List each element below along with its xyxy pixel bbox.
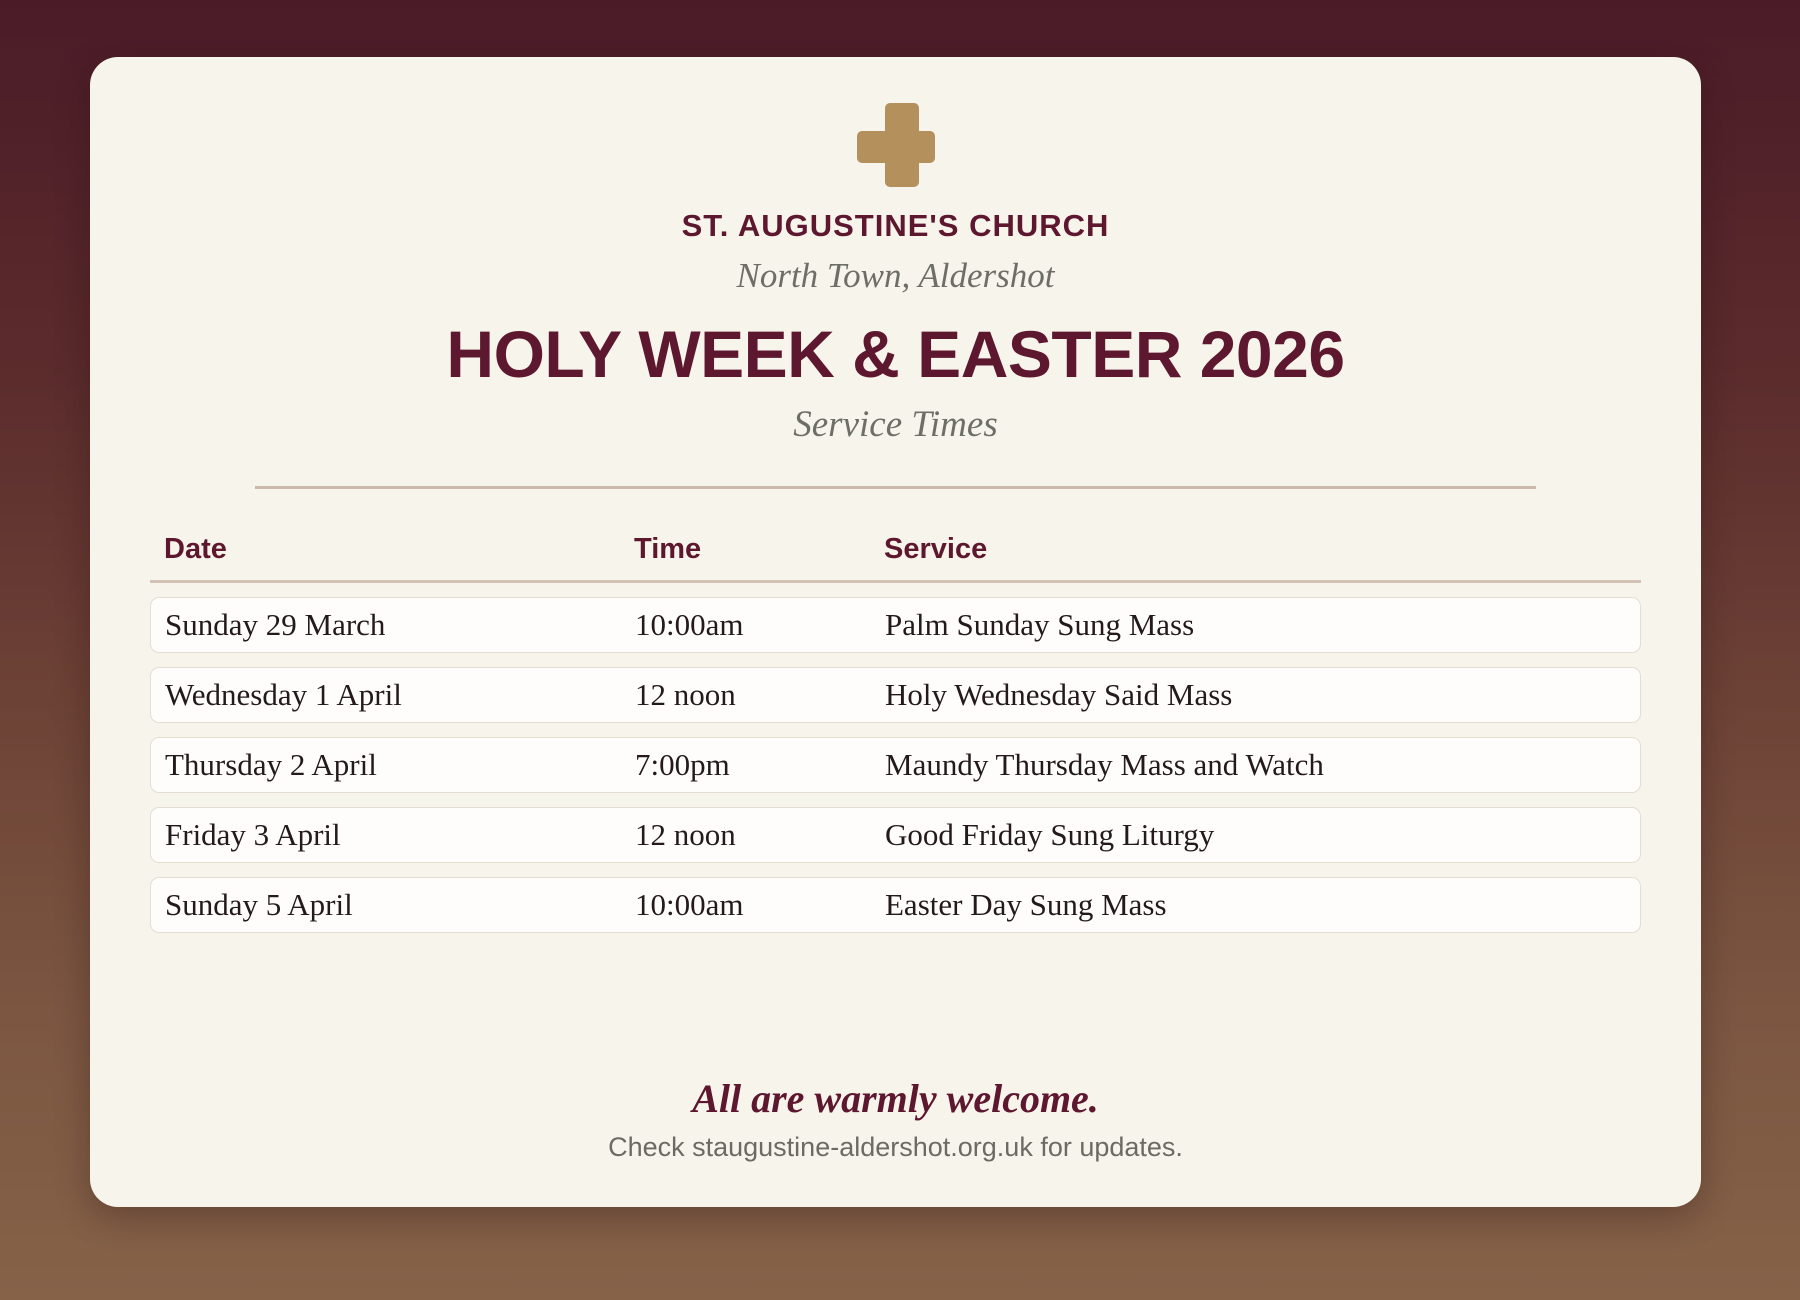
cell-service: Palm Sunday Sung Mass (885, 609, 1626, 640)
church-name: ST. AUGUSTINE'S CHURCH (150, 209, 1641, 243)
poster-footer: All are warmly welcome. Check staugustin… (150, 1077, 1641, 1207)
cell-time: 7:00pm (635, 749, 885, 780)
cell-service: Good Friday Sung Liturgy (885, 819, 1626, 850)
column-header-date: Date (164, 533, 634, 566)
cell-time: 12 noon (635, 679, 885, 710)
cell-date: Sunday 29 March (165, 609, 635, 640)
column-header-time: Time (634, 533, 884, 566)
cross-horizontal-bar (857, 131, 935, 163)
cell-date: Thursday 2 April (165, 749, 635, 780)
schedule-header-row: Date Time Service (150, 533, 1641, 583)
table-row: Sunday 29 March 10:00am Palm Sunday Sung… (150, 597, 1641, 653)
poster-header: ST. AUGUSTINE'S CHURCH North Town, Alder… (150, 97, 1641, 489)
cross-icon (857, 103, 935, 187)
cell-date: Friday 3 April (165, 819, 635, 850)
table-row: Thursday 2 April 7:00pm Maundy Thursday … (150, 737, 1641, 793)
cell-service: Maundy Thursday Mass and Watch (885, 749, 1626, 780)
website-note: Check staugustine-aldershot.org.uk for u… (150, 1133, 1641, 1163)
welcome-message: All are warmly welcome. (150, 1077, 1641, 1121)
cell-time: 12 noon (635, 819, 885, 850)
church-location: North Town, Aldershot (150, 257, 1641, 296)
page-subtitle: Service Times (150, 405, 1641, 446)
page-title: HOLY WEEK & EASTER 2026 (150, 320, 1641, 389)
cell-service: Holy Wednesday Said Mass (885, 679, 1626, 710)
cell-date: Wednesday 1 April (165, 679, 635, 710)
header-divider (255, 486, 1536, 489)
table-row: Friday 3 April 12 noon Good Friday Sung … (150, 807, 1641, 863)
cell-time: 10:00am (635, 889, 885, 920)
table-row: Wednesday 1 April 12 noon Holy Wednesday… (150, 667, 1641, 723)
table-row: Sunday 5 April 10:00am Easter Day Sung M… (150, 877, 1641, 933)
cell-time: 10:00am (635, 609, 885, 640)
schedule-table: Date Time Service Sunday 29 March 10:00a… (150, 533, 1641, 933)
cell-service: Easter Day Sung Mass (885, 889, 1626, 920)
cell-date: Sunday 5 April (165, 889, 635, 920)
poster-card: ST. AUGUSTINE'S CHURCH North Town, Alder… (90, 57, 1701, 1207)
column-header-service: Service (884, 533, 1627, 566)
